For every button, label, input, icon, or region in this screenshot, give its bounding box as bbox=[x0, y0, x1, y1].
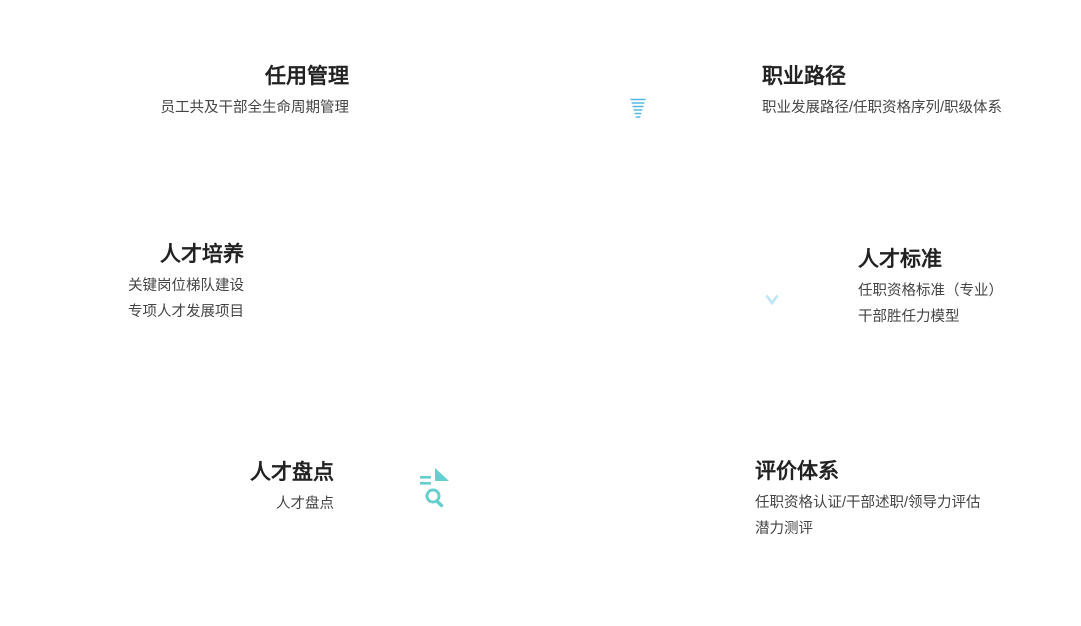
label-title: 人才标准 bbox=[858, 247, 1003, 273]
label-desc-line: 人才盘点 bbox=[250, 492, 334, 517]
label-desc-line: 潜力测评 bbox=[755, 517, 981, 542]
document-search-icon bbox=[409, 466, 455, 512]
necktie-icon bbox=[615, 80, 661, 126]
petal-number-06: 06 bbox=[448, 278, 484, 314]
two-users-icon bbox=[420, 82, 466, 128]
label-title: 人才盘点 bbox=[250, 460, 334, 486]
hr-talent-flower-diagram: 01 02 03 04 05 06 bbox=[0, 0, 1081, 626]
label-talent-standard: 人才标准 任职资格标准（专业） 干部胜任力模型 bbox=[858, 247, 1003, 330]
label-desc-line: 关键岗位梯队建设 bbox=[128, 274, 244, 299]
label-desc-line: 专项人才发展项目 bbox=[128, 300, 244, 325]
label-appointment-management: 任用管理 员工共及干部全生命周期管理 bbox=[161, 64, 350, 122]
label-talent-development: 人才培养 关键岗位梯队建设 专项人才发展项目 bbox=[128, 242, 244, 325]
label-title: 人才培养 bbox=[128, 242, 244, 268]
petal-number-05: 05 bbox=[485, 362, 521, 398]
label-desc-line: 职业发展路径/任职资格序列/职级体系 bbox=[762, 96, 1002, 121]
petal-number-01: 01 bbox=[485, 190, 521, 226]
label-evaluation-system: 评价体系 任职资格认证/干部述职/领导力评估 潜力测评 bbox=[755, 459, 981, 542]
petal-number-04: 04 bbox=[571, 362, 607, 398]
person-badge-icon bbox=[749, 272, 795, 318]
label-desc-line: 干部胜任力模型 bbox=[858, 305, 1003, 330]
label-desc-line: 任职资格标准（专业） bbox=[858, 279, 1003, 304]
label-title: 职业路径 bbox=[762, 64, 1002, 90]
label-desc-line: 任职资格认证/干部述职/领导力评估 bbox=[755, 491, 981, 516]
petal-number-03: 03 bbox=[605, 278, 641, 314]
label-career-path: 职业路径 职业发展路径/任职资格序列/职级体系 bbox=[762, 64, 1002, 122]
petal-number-02: 02 bbox=[576, 190, 612, 226]
label-title: 任用管理 bbox=[161, 64, 350, 90]
edit-square-icon bbox=[637, 469, 683, 515]
label-talent-inventory: 人才盘点 人才盘点 bbox=[250, 460, 334, 518]
label-desc-line: 员工共及干部全生命周期管理 bbox=[161, 96, 350, 121]
label-title: 评价体系 bbox=[755, 459, 981, 485]
person-star-icon bbox=[289, 280, 335, 326]
